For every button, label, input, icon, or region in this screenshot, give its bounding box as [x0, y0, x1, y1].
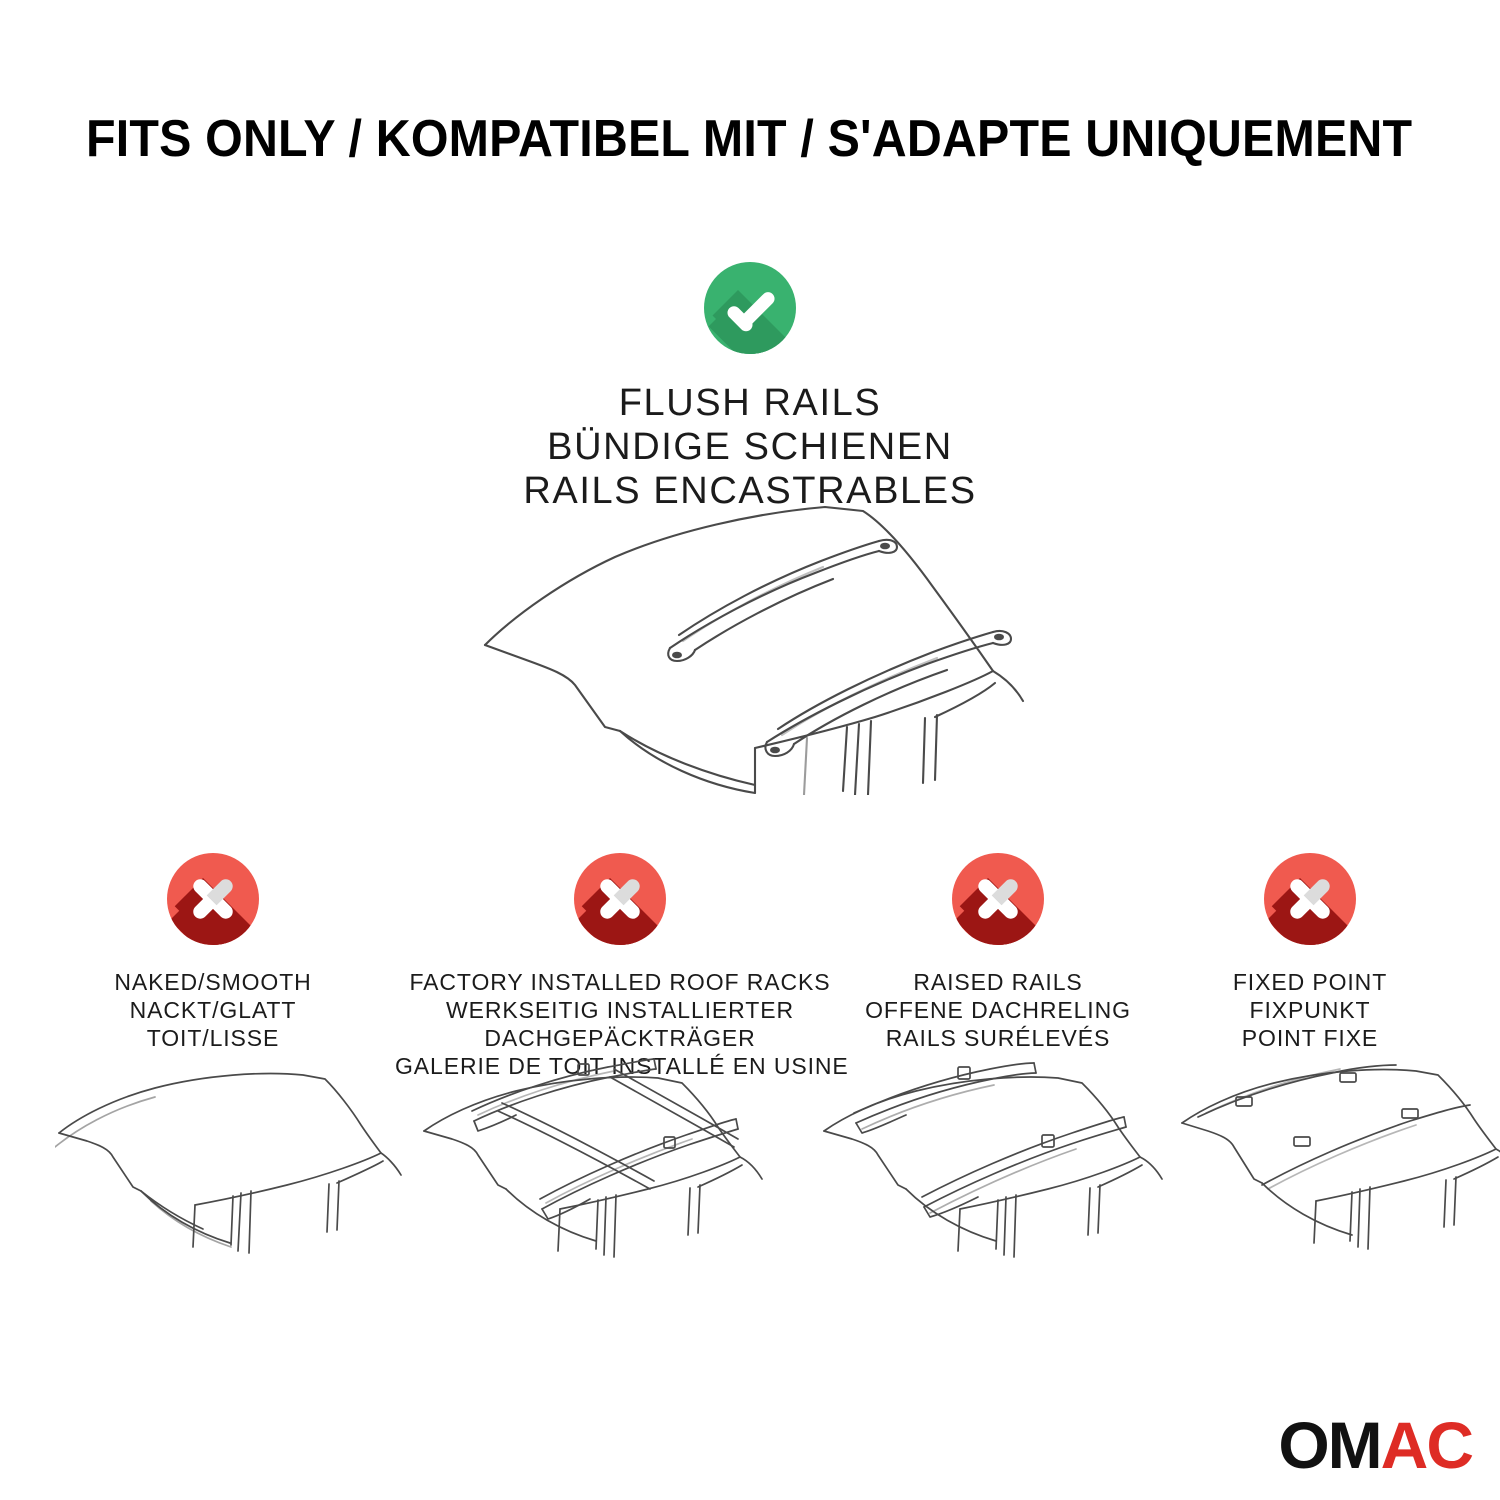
incompatible-item-naked-smooth: NAKED/SMOOTH NACKT/GLATT TOIT/LISSE [43, 853, 383, 1052]
incompatible-labels: RAISED RAILS OFFENE DACHRELING RAILS SUR… [843, 968, 1153, 1052]
logo-text-om: OM [1278, 1408, 1380, 1482]
incompatible-label-en: RAISED RAILS [843, 968, 1153, 996]
incompatible-item-fixed-point: FIXED POINT FIXPUNKT POINT FIXE [1165, 853, 1455, 1052]
incompatible-label-en: FIXED POINT [1165, 968, 1455, 996]
incompatible-label-fr: TOIT/LISSE [43, 1024, 383, 1052]
incompatible-label-de: FIXPUNKT [1165, 996, 1455, 1024]
car-roof-flush-rails-illustration [455, 495, 1055, 795]
incompatible-label-de: OFFENE DACHRELING [843, 996, 1153, 1024]
incompatible-labels: FIXED POINT FIXPUNKT POINT FIXE [1165, 968, 1455, 1052]
compatible-labels: FLUSH RAILS BÜNDIGE SCHIENEN RAILS ENCAS… [0, 381, 1500, 513]
incompatible-label-en: NAKED/SMOOTH [43, 968, 383, 996]
check-glyph [704, 262, 796, 354]
incompatible-item-factory-roof-racks: FACTORY INSTALLED ROOF RACKS WERKSEITIG … [395, 853, 845, 1080]
car-roof-naked-smooth-illustration [55, 1055, 405, 1285]
incompatible-label-fr: RAILS SURÉLEVÉS [843, 1024, 1153, 1052]
incompatible-label-de-line2: DACHGEPÄCKTRÄGER [395, 1024, 845, 1052]
car-roof-fixed-point-illustration [1178, 1055, 1500, 1285]
x-circle-icon [1264, 853, 1356, 945]
incompatible-labels: NAKED/SMOOTH NACKT/GLATT TOIT/LISSE [43, 968, 383, 1052]
car-roof-factory-roof-racks-illustration [418, 1055, 778, 1285]
incompatible-label-de-line1: WERKSEITIG INSTALLIERTER [395, 996, 845, 1024]
incompatible-illustrations-row [0, 1055, 1500, 1285]
incompatible-label-de: NACKT/GLATT [43, 996, 383, 1024]
check-circle-icon [704, 262, 796, 354]
logo-text-ac: AC [1381, 1408, 1472, 1482]
x-circle-icon [952, 853, 1044, 945]
car-roof-raised-rails-illustration [818, 1055, 1178, 1285]
incompatible-label-fr: POINT FIXE [1165, 1024, 1455, 1052]
omac-logo: OMAC [1278, 1410, 1472, 1480]
incompatible-label-en: FACTORY INSTALLED ROOF RACKS [395, 968, 845, 996]
x-glyph [952, 853, 1044, 945]
incompatible-item-raised-rails: RAISED RAILS OFFENE DACHRELING RAILS SUR… [843, 853, 1153, 1052]
x-glyph [1264, 853, 1356, 945]
x-circle-icon [574, 853, 666, 945]
x-glyph [574, 853, 666, 945]
compatible-label-en: FLUSH RAILS [0, 381, 1500, 425]
x-circle-icon [167, 853, 259, 945]
incompatible-section: NAKED/SMOOTH NACKT/GLATT TOIT/LISSE FACT… [0, 853, 1500, 1073]
page-title: FITS ONLY / KOMPATIBEL MIT / S'ADAPTE UN… [86, 108, 1332, 170]
compatible-label-de: BÜNDIGE SCHIENEN [0, 425, 1500, 469]
x-glyph [167, 853, 259, 945]
compatible-section: FLUSH RAILS BÜNDIGE SCHIENEN RAILS ENCAS… [0, 262, 1500, 513]
